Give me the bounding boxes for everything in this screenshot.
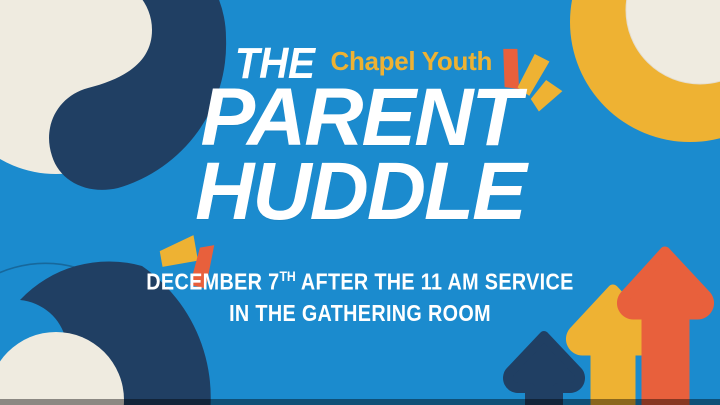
background-decorations xyxy=(0,0,720,405)
flyer-canvas: THEChapel Youth PARENT HUDDLE DECEMBER 7… xyxy=(0,0,720,405)
bottom-letterbox-bar xyxy=(0,399,720,405)
